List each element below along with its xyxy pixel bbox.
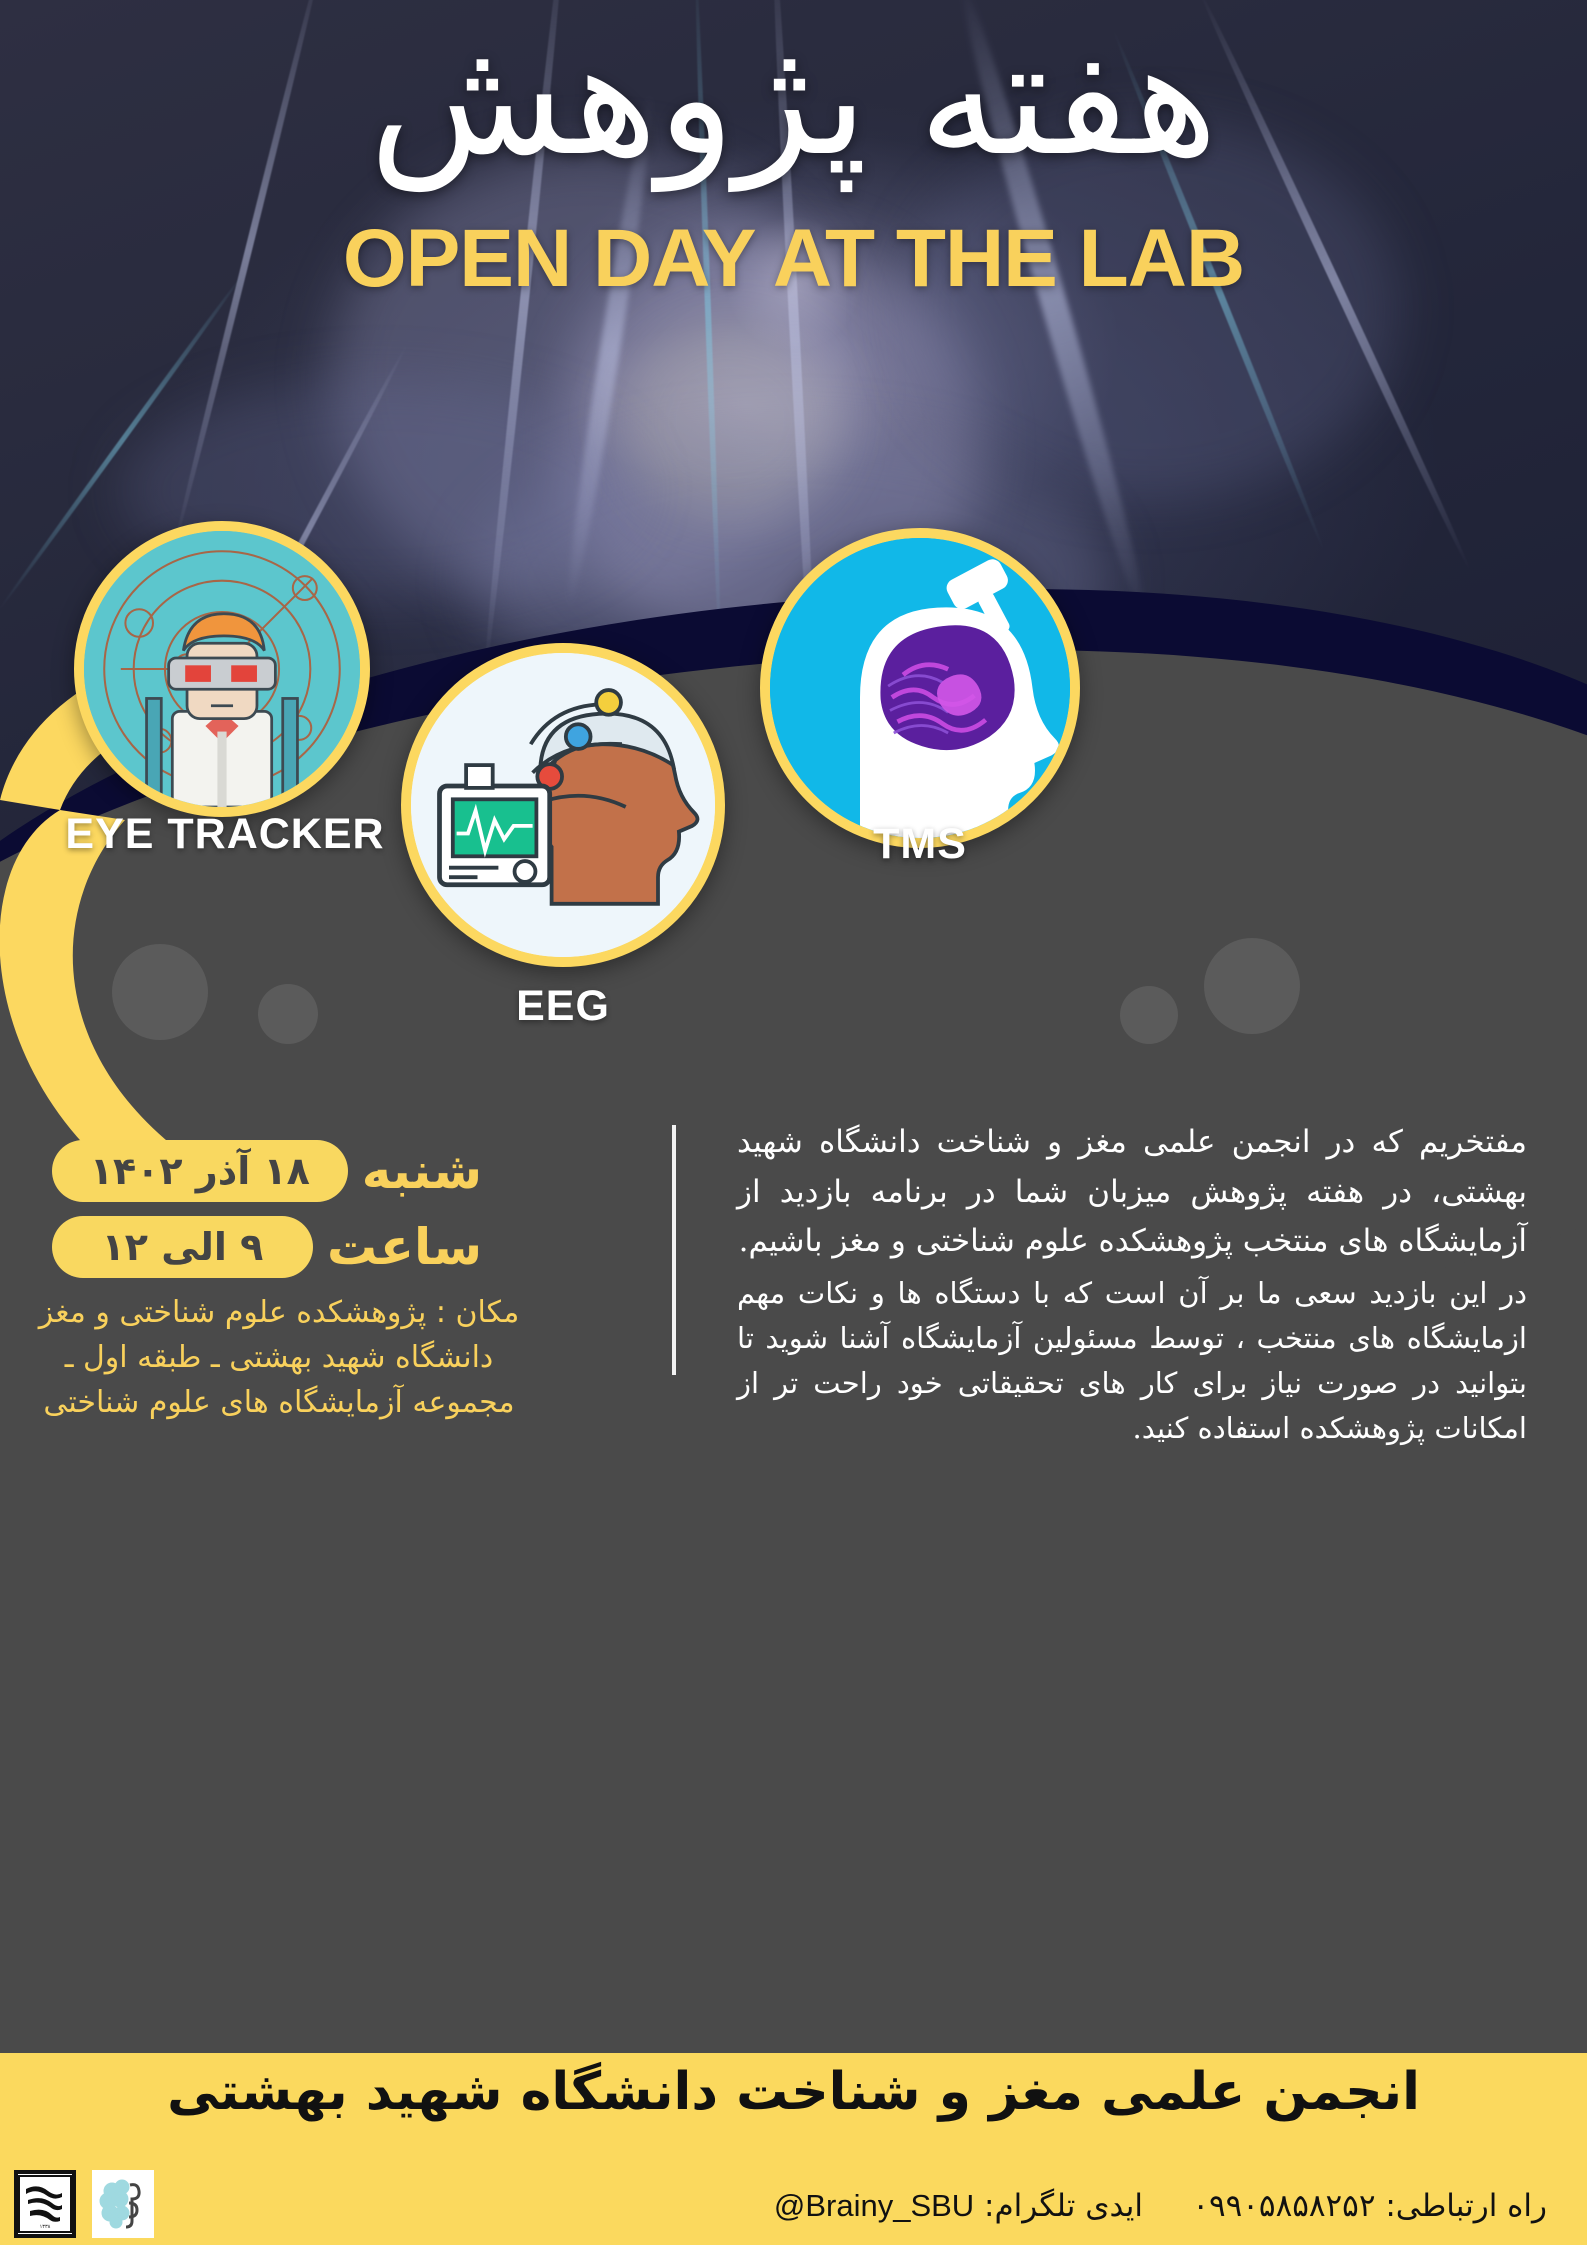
decorative-dot: [1120, 986, 1178, 1044]
event-day-label: شنبه: [362, 1142, 482, 1200]
svg-text:۱۳۳۸: ۱۳۳۸: [40, 2224, 51, 2230]
event-time-label: ساعت: [327, 1218, 482, 1276]
poster-title-english: OPEN DAY AT THE LAB: [0, 218, 1587, 300]
brainy-sbu-logo: [92, 2170, 154, 2238]
event-datetime-block: شنبه ۱۸ آذر ۱۴۰۲ ساعت ۹ الی ۱۲: [52, 1140, 482, 1292]
poster-title-farsi: هفته پژوهش: [0, 18, 1587, 178]
event-location-text: مکان : پژوهشکده علوم شناختی و مغز دانشگا…: [29, 1290, 529, 1425]
telegram-label: ایدی تلگرام:: [984, 2188, 1143, 2224]
tms-icon: [770, 538, 1070, 838]
event-time-row: ساعت ۹ الی ۱۲: [52, 1216, 482, 1278]
vertical-divider: [672, 1125, 676, 1375]
eye-tracker-icon: [84, 531, 360, 807]
eye-tracker-circle: [74, 521, 370, 817]
brain-logo-icon: [96, 2175, 150, 2233]
decorative-dot: [1204, 938, 1300, 1034]
description-paragraph-2: در این بازدید سعی ما بر آن است که با دست…: [737, 1271, 1527, 1452]
event-date-pill: ۱۸ آذر ۱۴۰۲: [52, 1140, 348, 1202]
footer-organization-name: انجمن علمی مغز و شناخت دانشگاه شهید بهشت…: [0, 2062, 1587, 2122]
eye-tracker-label: EYE TRACKER: [60, 810, 390, 859]
event-date-row: شنبه ۱۸ آذر ۱۴۰۲: [52, 1140, 482, 1202]
poster-root: هفته پژوهش OPEN DAY AT THE LAB: [0, 0, 1587, 2245]
event-time-pill: ۹ الی ۱۲: [52, 1216, 313, 1278]
sbu-logo-icon: ۱۳۳۸: [18, 2175, 72, 2233]
tms-label: TMS: [760, 820, 1080, 869]
decorative-dot: [112, 944, 208, 1040]
eeg-label: EEG: [401, 982, 725, 1031]
event-description: مفتخریم که در انجمن علمی مغز و شناخت دان…: [737, 1118, 1527, 1456]
decorative-dot: [258, 984, 318, 1044]
tms-circle: [760, 528, 1080, 848]
footer-contact-line: راه ارتباطی: ۰۹۹۰۵۸۵۸۲۵۲ ایدی تلگرام: @B…: [774, 2188, 1547, 2224]
eeg-circle: [401, 643, 725, 967]
eeg-icon: [411, 653, 715, 957]
description-paragraph-1: مفتخریم که در انجمن علمی مغز و شناخت دان…: [737, 1118, 1527, 1267]
sbu-university-logo: ۱۳۳۸: [14, 2170, 76, 2238]
telegram-handle[interactable]: @Brainy_SBU: [774, 2188, 974, 2224]
contact-phone: ۰۹۹۰۵۸۵۸۲۵۲: [1192, 2188, 1375, 2224]
contact-label: راه ارتباطی:: [1385, 2188, 1547, 2224]
